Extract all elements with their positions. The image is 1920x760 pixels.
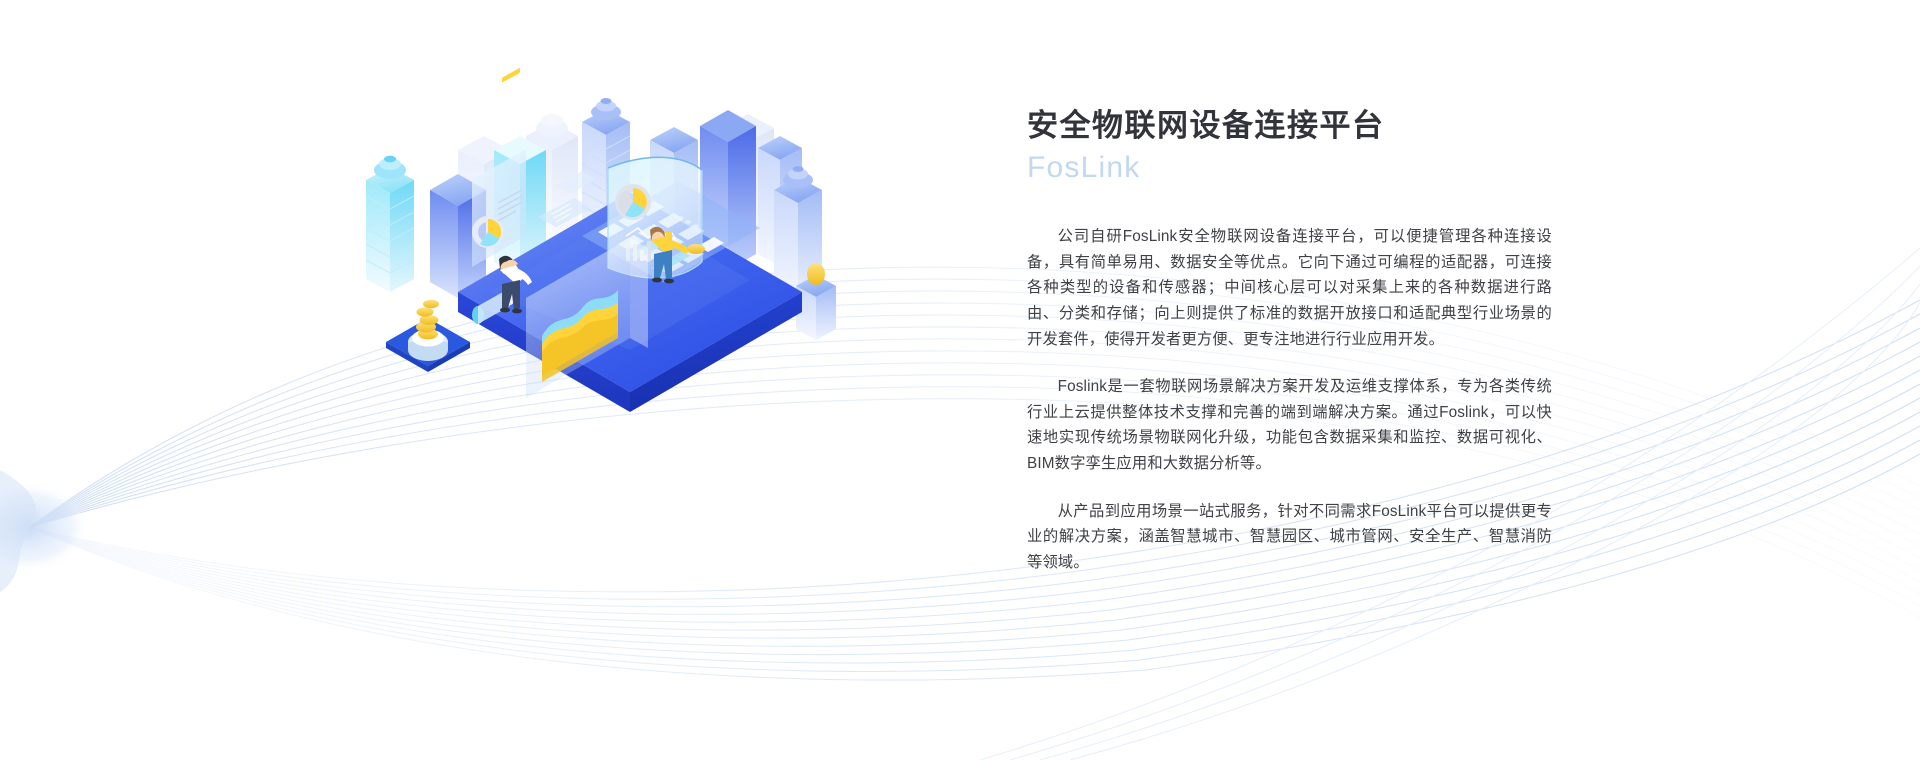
hero-section: 安全物联网设备连接平台 FosLink 公司自研FosLink安全物联网设备连接… bbox=[0, 0, 1920, 760]
product-name-subtitle: FosLink bbox=[1027, 148, 1567, 189]
coin-stack-pedestal bbox=[386, 300, 470, 372]
gold-coins bbox=[416, 300, 439, 340]
paragraph-1: 公司自研FosLink安全物联网设备连接平台，可以便捷管理各种连接设备，具有简单… bbox=[1027, 224, 1552, 352]
background-wave-decoration bbox=[0, 0, 1920, 760]
building-round-tower-left bbox=[366, 156, 414, 292]
paragraph-3: 从产品到应用场景一站式服务，针对不同需求FosLink平台可以提供更专业的解决方… bbox=[1027, 499, 1552, 576]
paragraph-2: Foslink是一套物联网场景解决方案开发及运维支撑体系，专为各类传统行业上云提… bbox=[1027, 374, 1552, 476]
hero-text-column: 安全物联网设备连接平台 FosLink 公司自研FosLink安全物联网设备连接… bbox=[1027, 106, 1567, 575]
description-paragraphs: 公司自研FosLink安全物联网设备连接平台，可以便捷管理各种连接设备，具有简单… bbox=[1027, 224, 1552, 575]
isometric-iot-illustration bbox=[330, 40, 850, 380]
coin-pedestal-right bbox=[807, 263, 825, 285]
page-title: 安全物联网设备连接平台 bbox=[1027, 106, 1567, 146]
